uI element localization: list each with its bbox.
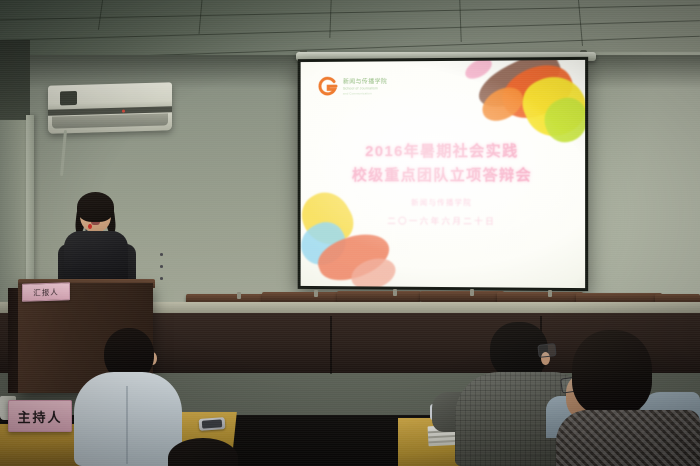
bench-leg — [314, 290, 318, 297]
audience-left-torso — [74, 372, 182, 466]
bench-leg — [393, 289, 397, 296]
table-seam — [330, 316, 332, 374]
school-logo: 新闻与传播学院 School of Journalism and Communi… — [317, 75, 387, 96]
glasses-icon — [537, 343, 556, 358]
bench-leg — [548, 290, 552, 297]
bench-backrest — [420, 291, 504, 302]
jacket-button — [160, 265, 163, 268]
jacket-button — [160, 277, 163, 280]
podium-name-card: 汇报人 — [22, 282, 70, 302]
audience-right-head — [572, 330, 652, 416]
logo-text-block: 新闻与传播学院 School of Journalism and Communi… — [343, 76, 387, 95]
bench-leg — [470, 289, 474, 296]
audience-right-torso — [556, 410, 700, 466]
presentation-room-photo: 新闻与传播学院 School of Journalism and Communi… — [0, 0, 700, 466]
logo-en-name: School of Journalism — [343, 86, 387, 90]
blouse-seam — [126, 386, 128, 464]
air-conditioner — [48, 82, 172, 133]
projection-screen: 新闻与传播学院 School of Journalism and Communi… — [298, 57, 588, 291]
moderator-name-card-label: 主持人 — [17, 407, 62, 426]
bench-leg — [237, 292, 241, 299]
bench-backrest — [337, 291, 421, 302]
slide-title-line-2: 校级重点团队立项答辩会 — [301, 164, 585, 185]
slide-date: 二〇一六年六月二十日 — [301, 214, 585, 227]
microphone-head-icon — [88, 224, 92, 229]
slide-title-line-1: 2016年暑期社会实践 — [365, 143, 518, 160]
podium-name-card-label: 汇报人 — [33, 286, 59, 298]
air-conditioner-vent — [52, 113, 168, 128]
moderator-name-card: 主持人 — [8, 400, 72, 432]
swirl-g-icon — [317, 75, 338, 96]
smartphone — [199, 417, 226, 431]
jacket-button — [160, 253, 163, 256]
air-conditioner-panel — [60, 91, 77, 105]
logo-en-name-2: and Communication — [343, 91, 387, 95]
slide-subtitle: 新闻与传播学院 — [301, 196, 585, 208]
speaker-hair — [77, 192, 114, 222]
slide-title: 2016年暑期社会实践 校级重点团队立项答辩会 — [301, 140, 585, 185]
logo-cn-name: 新闻与传播学院 — [343, 76, 387, 85]
presentation-slide: 新闻与传播学院 School of Journalism and Communi… — [301, 60, 585, 288]
